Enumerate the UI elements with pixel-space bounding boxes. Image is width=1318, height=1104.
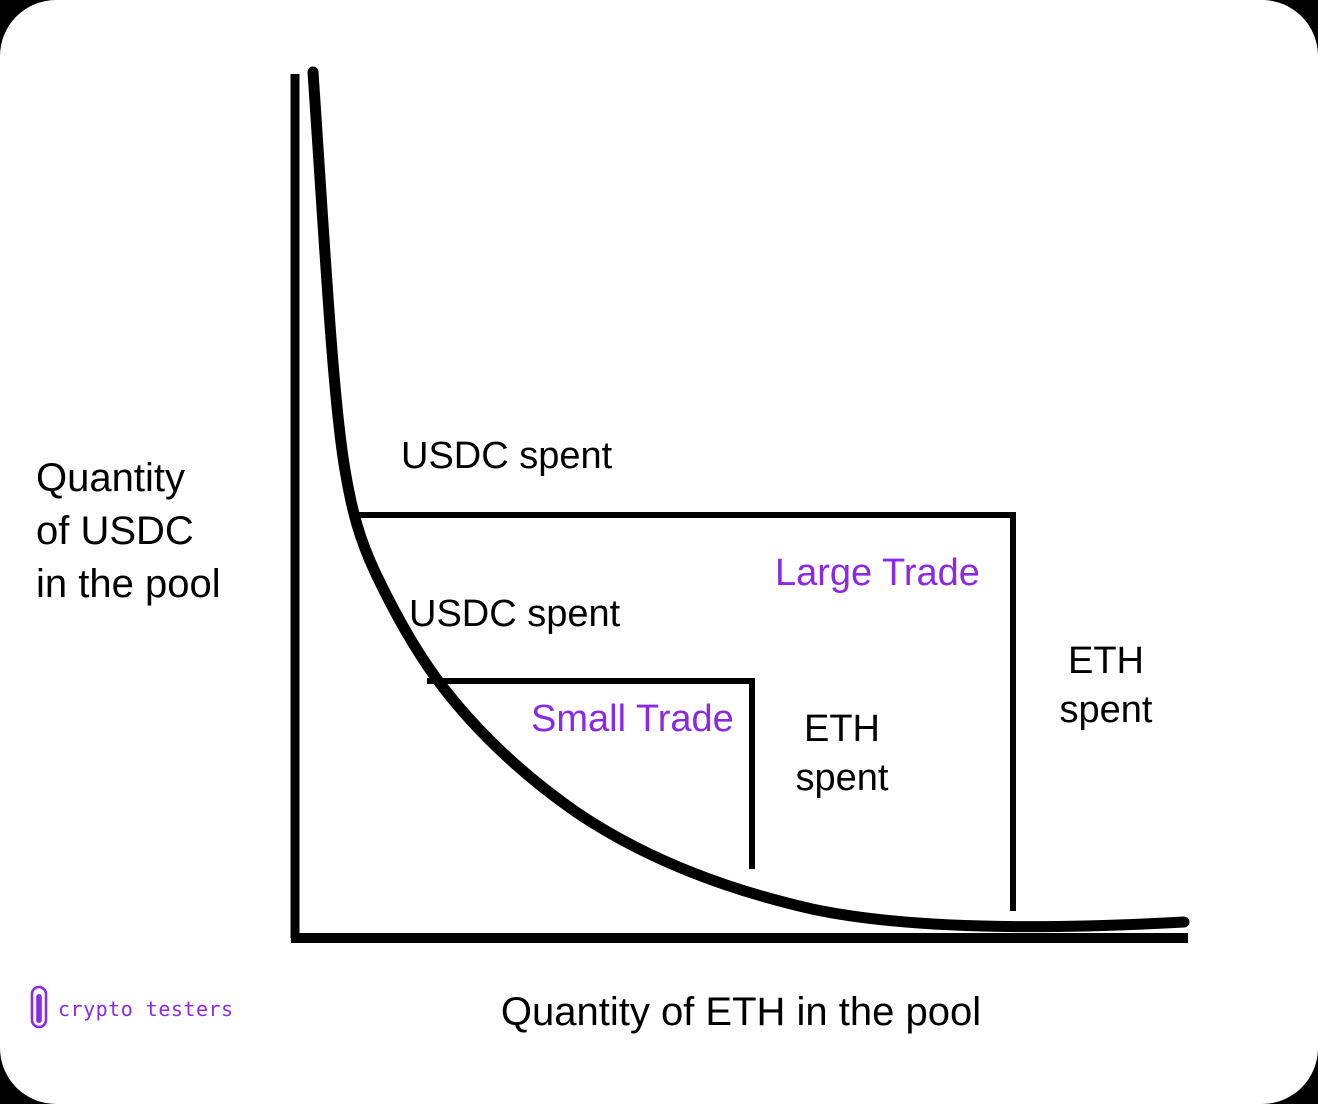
cryptotesters-logo[interactable]: crypto testers: [30, 985, 234, 1034]
test-tube-icon: [30, 985, 48, 1034]
bonding-curve: [313, 72, 1184, 927]
eth-spent-small-label: ETHspent: [782, 705, 902, 804]
usdc-spent-small-label: USDC spent: [409, 593, 620, 636]
large-trade-label: Large Trade: [775, 552, 980, 595]
usdc-spent-large-label: USDC spent: [401, 435, 612, 478]
small-trade-label: Small Trade: [531, 698, 734, 741]
x-axis-title: Quantity of ETH in the pool: [291, 990, 1191, 1036]
logo-text: crypto testers: [58, 998, 234, 1022]
amm-curve-diagram: Quantityof USDCin the pool Quantity of E…: [0, 0, 1318, 1104]
diagram-card: Quantityof USDCin the pool Quantity of E…: [0, 0, 1318, 1104]
eth-spent-large-label: ETHspent: [1046, 637, 1166, 736]
y-axis-title: Quantityof USDCin the pool: [36, 452, 276, 610]
